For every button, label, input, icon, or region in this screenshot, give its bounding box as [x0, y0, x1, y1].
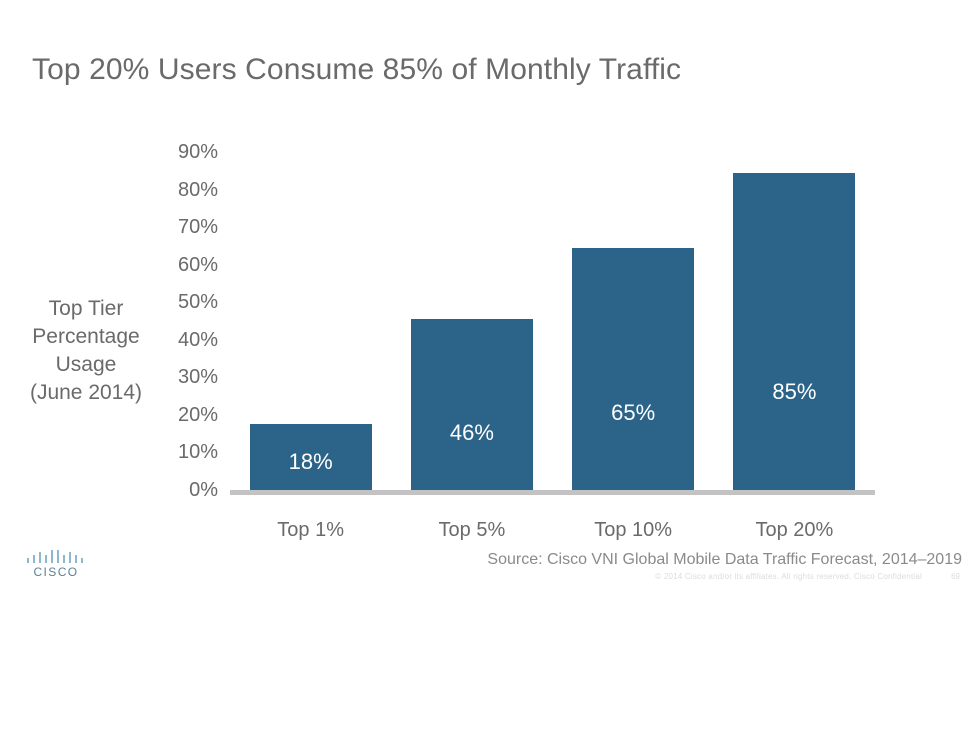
- bar[interactable]: 46%: [411, 319, 533, 492]
- y-axis-tick-label: 60%: [160, 255, 218, 275]
- bar-value-label: 46%: [411, 422, 533, 444]
- bar-slot: 65%: [553, 120, 714, 492]
- x-axis-category-label: Top 5%: [392, 519, 552, 542]
- bar[interactable]: 65%: [572, 248, 694, 492]
- y-axis-tick-label: 0%: [160, 480, 218, 500]
- y-axis-tick-label: 30%: [160, 367, 218, 387]
- y-axis-tick-label: 40%: [160, 330, 218, 350]
- bar-value-label: 85%: [733, 381, 855, 403]
- copyright-note: © 2014 Cisco and/or its affiliates. All …: [655, 572, 922, 581]
- bar-value-label: 18%: [250, 451, 372, 473]
- slide: Top 20% Users Consume 85% of Monthly Tra…: [0, 0, 980, 735]
- page-title: Top 20% Users Consume 85% of Monthly Tra…: [32, 53, 681, 87]
- bar[interactable]: 85%: [733, 173, 855, 492]
- y-axis-title: Top Tier Percentage Usage (June 2014): [8, 295, 164, 407]
- cisco-logo-text: CISCO: [24, 565, 88, 579]
- bar-slot: 85%: [714, 120, 875, 492]
- plot-area: 18%46%65%85%: [230, 120, 875, 540]
- bar-value-label: 65%: [572, 402, 694, 424]
- y-axis-tick-label: 50%: [160, 292, 218, 312]
- axis-baseline: [230, 490, 875, 495]
- x-axis-category-label: Top 20%: [714, 519, 874, 542]
- x-axis-category-label: Top 10%: [553, 519, 713, 542]
- y-axis-ticks: 0%10%20%30%40%50%60%70%80%90%: [160, 120, 218, 540]
- source-note: Source: Cisco VNI Global Mobile Data Tra…: [487, 551, 962, 569]
- cisco-bridge-icon: [27, 550, 85, 563]
- y-axis-tick-label: 20%: [160, 405, 218, 425]
- x-axis-category-label: Top 1%: [231, 519, 391, 542]
- bar-slot: 46%: [391, 120, 552, 492]
- y-axis-tick-label: 10%: [160, 442, 218, 462]
- y-axis-title-line-3: Usage: [8, 351, 164, 379]
- y-axis-tick-label: 80%: [160, 180, 218, 200]
- bar[interactable]: 18%: [250, 424, 372, 492]
- page-number: 69: [951, 572, 960, 581]
- y-axis-title-line-2: Percentage: [8, 323, 164, 351]
- bar-chart: Top Tier Percentage Usage (June 2014) 0%…: [0, 120, 980, 540]
- y-axis-title-line-1: Top Tier: [8, 295, 164, 323]
- y-axis-tick-label: 90%: [160, 142, 218, 162]
- bar-slot: 18%: [230, 120, 391, 492]
- x-axis-labels: Top 1%Top 5%Top 10%Top 20%: [230, 498, 875, 532]
- cisco-logo: CISCO: [24, 550, 88, 584]
- bar-series: 18%46%65%85%: [230, 120, 875, 492]
- y-axis-tick-label: 70%: [160, 217, 218, 237]
- y-axis-title-line-4: (June 2014): [8, 379, 164, 407]
